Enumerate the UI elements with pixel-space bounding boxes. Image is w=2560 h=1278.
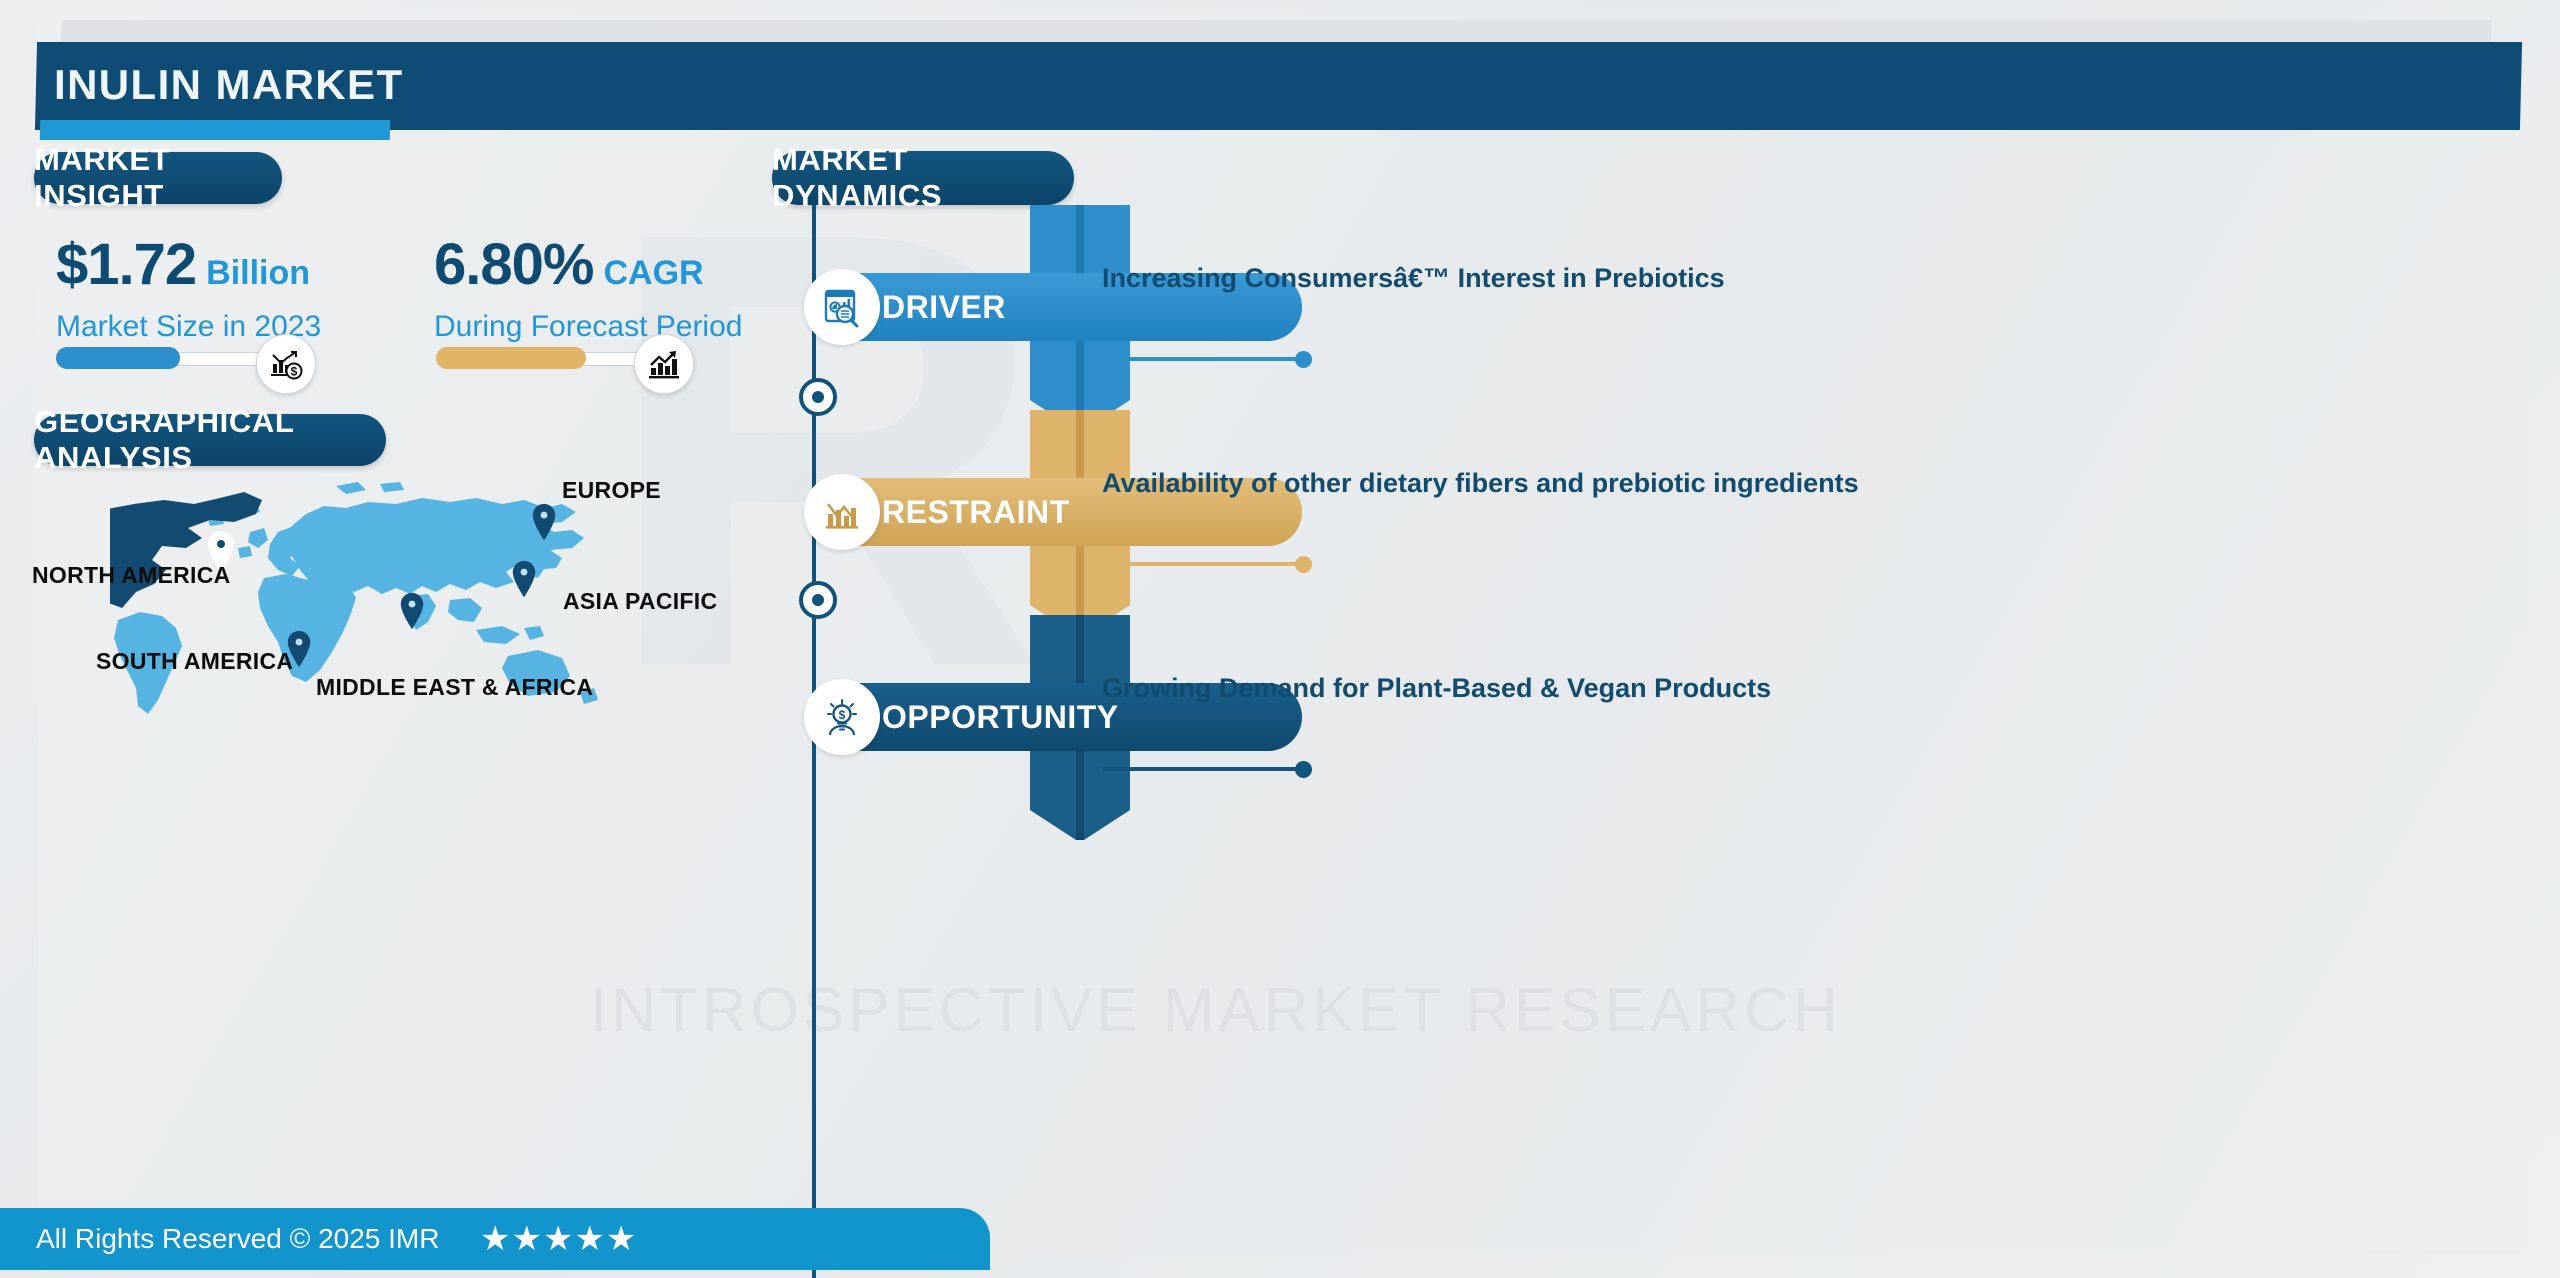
dynamics-item-opportunity: $ OPPORTUNITY Growing Demand for Plant-B… xyxy=(790,665,2530,785)
growth-arrow-chart-icon xyxy=(634,334,694,394)
dynamics-item-restraint: RESTRAINT Availability of other dietary … xyxy=(790,460,2530,580)
driver-rule xyxy=(1102,357,1302,361)
infographic-canvas: R INTROSPECTIVE MARKET RESEARCH INULIN M… xyxy=(0,0,2560,1278)
stat-value: 6.80% xyxy=(434,232,593,297)
header-underline-accent xyxy=(40,120,390,140)
timeline-node xyxy=(799,581,837,619)
dynamics-item-driver: DRIVER Increasing Consumersâ€™ Interest … xyxy=(790,255,2530,375)
stat-market-size: $1.72Billion Market Size in 2023 xyxy=(56,236,321,344)
timeline-node xyxy=(799,378,837,416)
copyright-text: All Rights Reserved © 2025 IMR xyxy=(36,1208,439,1270)
svg-text:$: $ xyxy=(291,365,298,379)
opportunity-label: OPPORTUNITY xyxy=(882,683,1119,751)
map-label-north-america: NORTH AMERICA xyxy=(32,562,231,589)
driver-dot xyxy=(1295,351,1312,368)
map-pin-middle-east-africa xyxy=(399,592,425,630)
stat-unit: Billion xyxy=(206,254,310,292)
market-size-progress-fill xyxy=(56,347,180,369)
restraint-dot xyxy=(1295,556,1312,573)
declining-bar-chart-icon xyxy=(804,474,880,550)
opportunity-rule xyxy=(1102,767,1302,771)
market-dynamics-pill: MARKET DYNAMICS xyxy=(772,151,1074,205)
market-insight-pill: MARKET INSIGHT xyxy=(34,152,282,204)
lightbulb-dollar-icon: $ xyxy=(804,679,880,755)
restraint-label: RESTRAINT xyxy=(882,478,1070,546)
restraint-description-block: Availability of other dietary fibers and… xyxy=(1102,466,1862,502)
opportunity-description-block: Growing Demand for Plant-Based & Vegan P… xyxy=(1102,671,1862,707)
page-title: INULIN MARKET xyxy=(54,52,1454,118)
svg-text:$: $ xyxy=(839,708,846,722)
stat-value: $1.72 xyxy=(56,232,196,297)
map-pin-asia-pacific xyxy=(511,560,537,598)
opportunity-dot xyxy=(1295,761,1312,778)
map-label-asia-pacific: ASIA PACIFIC xyxy=(563,588,717,615)
bar-chart-dollar-icon: $ xyxy=(256,334,316,394)
footer-bar: All Rights Reserved © 2025 IMR ★★★★★ xyxy=(0,1208,990,1270)
driver-label: DRIVER xyxy=(882,273,1006,341)
restraint-description: Availability of other dietary fibers and… xyxy=(1102,466,1862,502)
map-label-south-america: SOUTH AMERICA xyxy=(96,648,293,675)
driver-description-block: Increasing Consumersâ€™ Interest in Preb… xyxy=(1102,261,1862,297)
cagr-progress-fill xyxy=(436,347,586,369)
rating-stars: ★★★★★ xyxy=(480,1208,637,1270)
stat-caption: During Forecast Period xyxy=(434,310,742,344)
stat-unit: CAGR xyxy=(603,254,703,292)
restraint-rule xyxy=(1102,562,1302,566)
watermark-text: INTROSPECTIVE MARKET RESEARCH xyxy=(590,975,1990,1046)
map-pin-europe xyxy=(531,503,557,541)
opportunity-description: Growing Demand for Plant-Based & Vegan P… xyxy=(1102,671,1862,707)
stat-cagr: 6.80%CAGR During Forecast Period xyxy=(434,236,742,344)
driver-description: Increasing Consumersâ€™ Interest in Preb… xyxy=(1102,261,1862,297)
report-search-icon xyxy=(804,269,880,345)
geographical-analysis-pill: GEOGRAPHICAL ANALYSIS xyxy=(34,414,386,466)
map-label-middle-east-africa: MIDDLE EAST & AFRICA xyxy=(316,674,593,701)
map-label-europe: EUROPE xyxy=(562,477,661,504)
